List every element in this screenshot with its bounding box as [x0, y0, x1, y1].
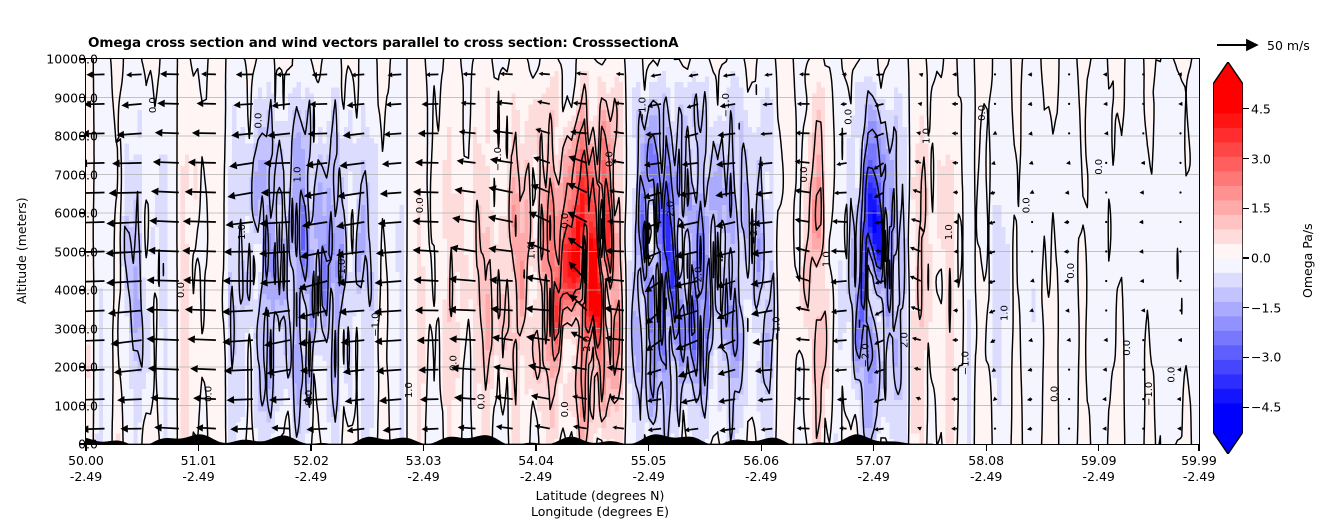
colorbar-tick-mark — [1243, 208, 1249, 209]
colorbar-gradient — [1213, 62, 1243, 454]
y-axis-tick-mark — [79, 405, 85, 406]
x-axis-tick-mark — [1198, 445, 1199, 451]
y-axis-tick-label: 6000.0 — [54, 206, 98, 221]
x-axis-tick-mark — [761, 445, 762, 451]
x-axis-tick-label-longitude: -2.49 — [181, 469, 217, 485]
x-axis-tick-mark — [873, 445, 874, 451]
y-axis-tick-mark — [79, 251, 85, 252]
x-axis-label-longitude: Longitude (degrees E) — [0, 504, 1200, 519]
x-axis-tick-label-latitude: 57.07 — [856, 453, 892, 469]
x-axis-tick-group: 58.08-2.49 — [968, 453, 1004, 485]
x-axis-tick-group: 53.03-2.49 — [406, 453, 442, 485]
colorbar-label: Omega Pa/s — [1300, 223, 1315, 298]
colorbar-tick-mark — [1243, 108, 1249, 109]
x-axis-tick-label-longitude: -2.49 — [743, 469, 779, 485]
quiver-key-label: 50 m/s — [1267, 38, 1310, 53]
x-axis-tick-mark — [310, 445, 311, 451]
x-axis-tick-label-latitude: 56.06 — [743, 453, 779, 469]
x-axis-tick-label-latitude: 50.00 — [68, 453, 104, 469]
x-axis-tick-label-latitude: 59.99 — [1181, 453, 1217, 469]
y-axis-tick-mark — [79, 58, 85, 59]
x-axis-tick-group: 52.02-2.49 — [293, 453, 329, 485]
x-axis-tick-mark — [423, 445, 424, 451]
x-axis-tick-group: 55.05-2.49 — [631, 453, 667, 485]
y-axis-tick-label: 1000.0 — [54, 398, 98, 413]
x-axis-tick-label-longitude: -2.49 — [968, 469, 1004, 485]
x-axis-tick-label-longitude: -2.49 — [1081, 469, 1117, 485]
x-axis-tick-mark — [535, 445, 536, 451]
y-axis-tick-label: 7000.0 — [54, 167, 98, 182]
cross-section-plot[interactable]: 0.01.0−1.0−1.00.0−1.0−1.00.01.00.02.00.0… — [85, 58, 1200, 445]
colorbar-tick-mark — [1243, 307, 1249, 308]
x-axis-tick-label-longitude: -2.49 — [631, 469, 667, 485]
colorbar-tick-label: 4.5 — [1251, 101, 1271, 116]
x-axis-tick-group: 59.09-2.49 — [1081, 453, 1117, 485]
x-axis-tick-label-longitude: -2.49 — [518, 469, 554, 485]
x-axis-tick-mark — [986, 445, 987, 451]
x-axis-tick-label-latitude: 58.08 — [968, 453, 1004, 469]
y-axis-tick-mark — [79, 289, 85, 290]
x-axis-tick-group: 50.00-2.49 — [68, 453, 104, 485]
colorbar-tick-mark — [1243, 407, 1249, 408]
colorbar-tick-label: 0.0 — [1251, 251, 1271, 266]
x-axis-tick-mark — [198, 445, 199, 451]
y-axis-tick-label: 5000.0 — [54, 244, 98, 259]
y-axis-tick-mark — [79, 443, 85, 444]
y-axis-tick-label: 10000.0 — [46, 52, 98, 67]
x-axis-tick-label-latitude: 53.03 — [406, 453, 442, 469]
title-line-1: Omega cross section and wind vectors par… — [88, 36, 988, 51]
y-axis-tick-mark — [79, 135, 85, 136]
colorbar[interactable] — [1213, 62, 1243, 454]
x-axis-tick-mark — [85, 445, 86, 451]
x-axis-label-latitude: Latitude (degrees N) — [0, 488, 1200, 503]
x-axis-tick-group: 57.07-2.49 — [856, 453, 892, 485]
x-axis-tick-mark — [1098, 445, 1099, 451]
y-axis-tick-label: 2000.0 — [54, 360, 98, 375]
x-axis-tick-label-longitude: -2.49 — [68, 469, 104, 485]
y-axis-tick-label: 8000.0 — [54, 129, 98, 144]
colorbar-tick-label: −3.0 — [1251, 350, 1281, 365]
y-axis-tick-mark — [79, 328, 85, 329]
y-axis-tick-label: 3000.0 — [54, 321, 98, 336]
x-axis-tick-label-longitude: -2.49 — [406, 469, 442, 485]
x-axis-tick-group: 54.04-2.49 — [518, 453, 554, 485]
x-axis-tick-label-longitude: -2.49 — [1181, 469, 1217, 485]
y-axis-label: Altitude (meters) — [14, 197, 29, 304]
colorbar-tick-mark — [1243, 158, 1249, 159]
colorbar-tick-label: 3.0 — [1251, 151, 1271, 166]
plot-canvas: 0.01.0−1.0−1.00.0−1.0−1.00.01.00.02.00.0… — [86, 59, 1199, 444]
colorbar-tick-label: 1.5 — [1251, 201, 1271, 216]
colorbar-tick-label: −4.5 — [1251, 400, 1281, 415]
colorbar-tick-label: −1.5 — [1251, 300, 1281, 315]
quiver-key-arrow-icon — [1215, 36, 1267, 56]
y-axis-tick-mark — [79, 366, 85, 367]
x-axis-tick-label-latitude: 54.04 — [518, 453, 554, 469]
y-axis-tick-mark — [79, 174, 85, 175]
colorbar-tick-mark — [1243, 357, 1249, 358]
x-axis-tick-mark — [648, 445, 649, 451]
y-axis-tick-mark — [79, 212, 85, 213]
y-axis-tick-mark — [79, 97, 85, 98]
y-axis-tick-label: 9000.0 — [54, 90, 98, 105]
x-axis-tick-label-latitude: 55.05 — [631, 453, 667, 469]
x-axis-tick-group: 51.01-2.49 — [181, 453, 217, 485]
x-axis-tick-label-longitude: -2.49 — [856, 469, 892, 485]
x-axis-tick-label-latitude: 52.02 — [293, 453, 329, 469]
x-axis-tick-label-latitude: 59.09 — [1081, 453, 1117, 469]
x-axis-tick-group: 59.99-2.49 — [1181, 453, 1217, 485]
colorbar-tick-mark — [1243, 257, 1249, 258]
quiver-key: 50 m/s — [1215, 36, 1320, 56]
y-axis-tick-label: 4000.0 — [54, 283, 98, 298]
x-axis-tick-label-longitude: -2.49 — [293, 469, 329, 485]
x-axis-tick-group: 56.06-2.49 — [743, 453, 779, 485]
x-axis-tick-label-latitude: 51.01 — [181, 453, 217, 469]
